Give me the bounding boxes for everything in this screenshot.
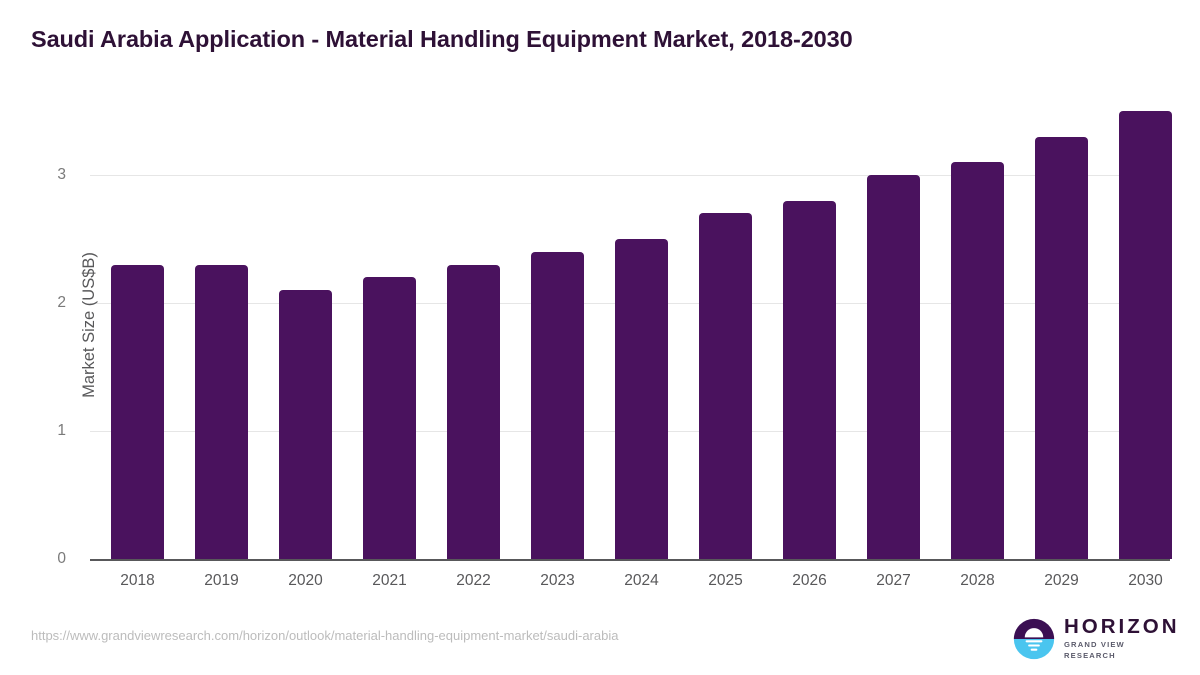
y-tick-label: 1 <box>26 422 66 440</box>
x-tick-label: 2030 <box>1104 572 1188 590</box>
bar[interactable] <box>531 252 584 559</box>
bar[interactable] <box>279 290 332 559</box>
bar[interactable] <box>783 201 836 559</box>
x-tick-label: 2028 <box>936 572 1020 590</box>
x-tick-label: 2025 <box>684 572 768 590</box>
horizon-logo-icon <box>1013 618 1055 660</box>
bar[interactable] <box>447 265 500 559</box>
bar[interactable] <box>867 175 920 559</box>
bar[interactable] <box>363 277 416 559</box>
logo-wordmark: HORIZON <box>1064 617 1180 637</box>
horizon-logo-text: HORIZON GRAND VIEW RESEARCH <box>1064 617 1180 661</box>
bar[interactable] <box>195 265 248 559</box>
x-axis-line <box>90 559 1170 561</box>
y-tick-label: 2 <box>26 294 66 312</box>
bar[interactable] <box>699 213 752 559</box>
gridline <box>90 175 1170 176</box>
source-url[interactable]: https://www.grandviewresearch.com/horizo… <box>31 628 618 643</box>
x-tick-label: 2026 <box>768 572 852 590</box>
bar[interactable] <box>1035 137 1088 559</box>
x-tick-label: 2019 <box>180 572 264 590</box>
x-tick-label: 2022 <box>432 572 516 590</box>
x-tick-label: 2020 <box>264 572 348 590</box>
horizon-logo[interactable]: HORIZON GRAND VIEW RESEARCH <box>1013 617 1170 661</box>
x-tick-label: 2021 <box>348 572 432 590</box>
x-tick-label: 2024 <box>600 572 684 590</box>
logo-tagline: GRAND VIEW RESEARCH <box>1064 639 1180 661</box>
bar[interactable] <box>111 265 164 559</box>
bar[interactable] <box>1119 111 1172 559</box>
x-tick-label: 2029 <box>1020 572 1104 590</box>
y-axis-title: Market Size (US$B) <box>78 90 100 560</box>
x-tick-label: 2018 <box>96 572 180 590</box>
y-tick-label: 0 <box>26 550 66 568</box>
bar[interactable] <box>615 239 668 559</box>
y-tick-label: 3 <box>26 166 66 184</box>
bar[interactable] <box>951 162 1004 559</box>
x-tick-label: 2027 <box>852 572 936 590</box>
plot-area: 0123 20182019202020212022202320242025202… <box>90 90 1170 560</box>
chart-page: Saudi Arabia Application - Material Hand… <box>0 0 1200 675</box>
x-tick-label: 2023 <box>516 572 600 590</box>
page-title: Saudi Arabia Application - Material Hand… <box>31 26 853 53</box>
